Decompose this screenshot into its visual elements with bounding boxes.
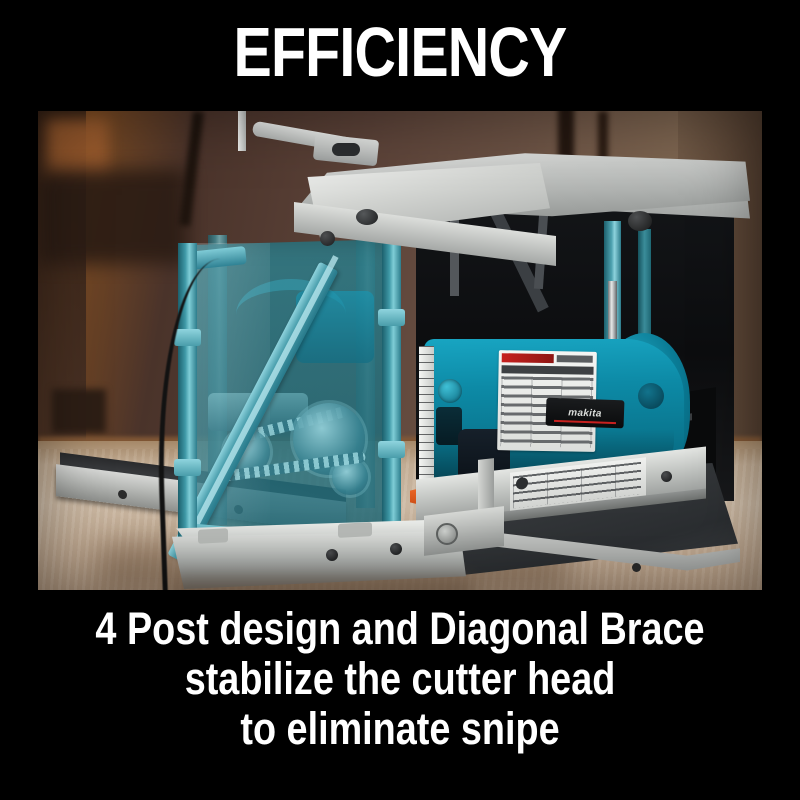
- thickness-planer: makita: [38, 111, 762, 590]
- spec-model-banner: [557, 355, 593, 363]
- front-band-boss: [478, 458, 494, 512]
- front-band-screw: [661, 471, 672, 482]
- page-title: EFFICIENCY: [72, 16, 728, 88]
- column-post-front-right: [382, 229, 401, 525]
- base-notch-right: [338, 522, 372, 538]
- caption-block: 4 Post design and Diagonal Brace stabili…: [0, 604, 800, 754]
- motor-access-hole: [638, 383, 664, 409]
- infeed-table-screw: [118, 489, 127, 499]
- product-photo: makita: [38, 111, 762, 590]
- base-screw-left: [326, 549, 338, 561]
- motor-dial-knob[interactable]: [438, 379, 462, 403]
- top-lock-knob-left[interactable]: [320, 231, 335, 246]
- outfeed-table-screw-secondary: [632, 563, 641, 572]
- post-collar-front-right-lower: [378, 441, 405, 458]
- caption-line-3: to eliminate snipe: [64, 704, 736, 754]
- caption-line-2: stabilize the cutter head: [64, 654, 736, 704]
- top-adjust-knob[interactable]: [356, 209, 378, 225]
- spec-title-bar: [501, 365, 593, 375]
- base-pivot-icon: [436, 523, 458, 545]
- base-screw-right: [390, 543, 402, 555]
- crank-shaft[interactable]: [238, 111, 246, 151]
- caption-line-1: 4 Post design and Diagonal Brace: [64, 604, 736, 654]
- crank-mount-slot: [332, 143, 360, 156]
- top-lock-knob-right[interactable]: [628, 211, 652, 231]
- spec-brand-banner: [502, 353, 554, 363]
- brand-nameplate-text: makita: [568, 407, 602, 419]
- promo-slide: EFFICIENCY: [0, 0, 800, 800]
- post-collar-front-right-upper: [378, 309, 405, 326]
